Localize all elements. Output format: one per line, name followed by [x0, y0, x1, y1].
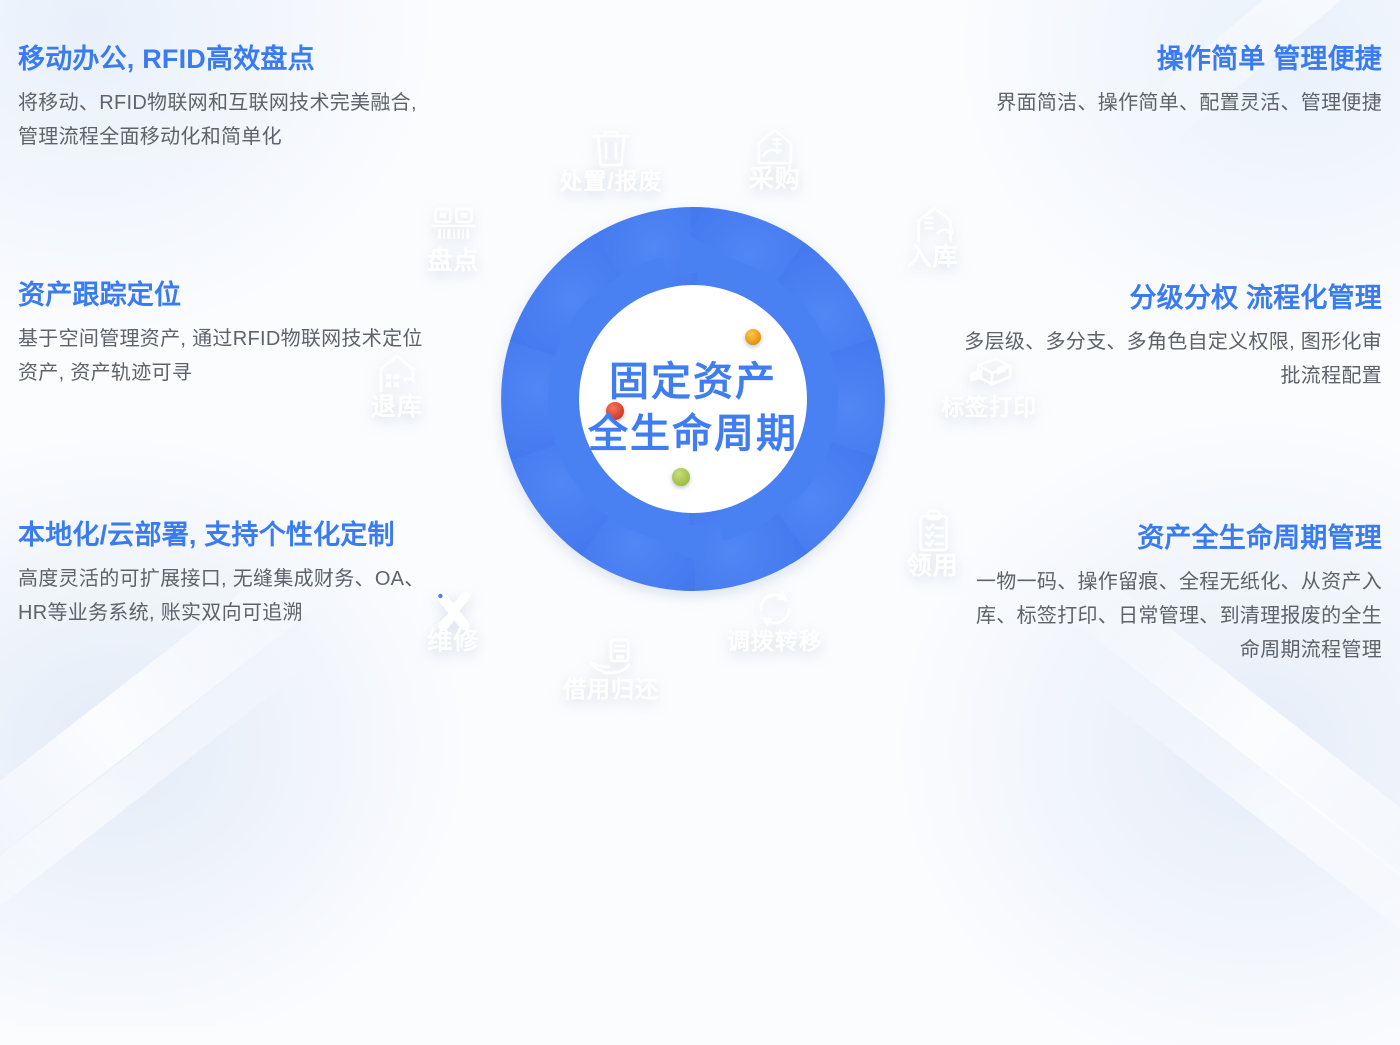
segment-label: 领用 — [907, 551, 959, 580]
segment-label: 入库 — [907, 243, 959, 271]
segment-label: 退库 — [371, 393, 423, 421]
lifecycle-wheel-diagram: 采购 入库 — [323, 49, 1063, 749]
segment-label: 标签打印 — [941, 394, 1037, 420]
segment-label: 采购 — [749, 164, 801, 193]
center-title-line2: 全生命周期 — [587, 411, 798, 456]
segment-label: 调拨转移 — [727, 628, 823, 654]
segment-label: 借用归还 — [562, 676, 659, 702]
green-dot — [672, 468, 690, 486]
segment-label: 盘点 — [427, 246, 479, 275]
segment-label: 维修 — [427, 626, 479, 655]
segment-label: 处置/报废 — [558, 168, 662, 194]
center-title-line1: 固定资产 — [609, 360, 777, 404]
orange-dot — [745, 329, 761, 345]
